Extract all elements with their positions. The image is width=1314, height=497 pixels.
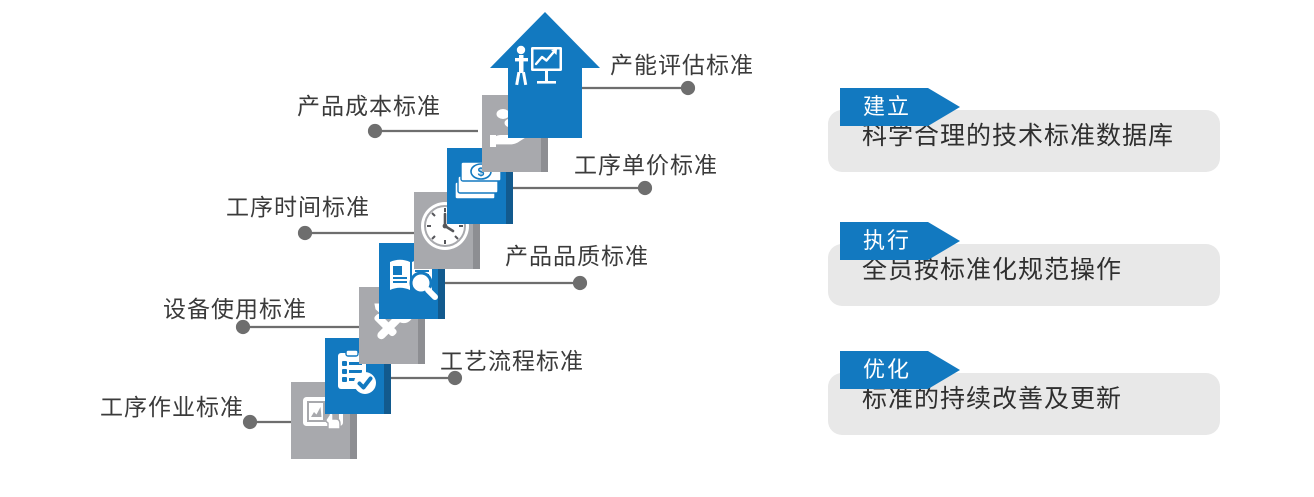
infographic-canvas: $	[0, 0, 1314, 497]
step-label-8: 产能评估标准	[610, 54, 754, 77]
standards-lifecycle-panel: 科学合理的技术标准数据库 建立 全员按标准化规范操作 执行 标准的持续改善及更新…	[828, 0, 1314, 497]
connector-dot-4	[574, 277, 586, 289]
step-label-3: 设备使用标准	[163, 298, 307, 321]
tab-label-3: 优化	[840, 351, 934, 389]
tab-label-2: 执行	[840, 222, 934, 260]
step-label-4: 产品品质标准	[505, 245, 649, 268]
connector-dot-5	[299, 227, 311, 239]
card-tab-1[interactable]: 建立	[840, 88, 960, 126]
card-tab-3[interactable]: 优化	[840, 351, 960, 389]
step-label-6: 工序单价标准	[574, 154, 718, 177]
step-label-2: 工艺流程标准	[440, 350, 584, 373]
step-label-5: 工序时间标准	[226, 196, 370, 219]
connector-dot-8	[682, 82, 694, 94]
connector-dot-1	[244, 416, 256, 428]
card-tab-2[interactable]: 执行	[840, 222, 960, 260]
connector-dot-3	[237, 321, 249, 333]
staircase-diagram: $	[0, 0, 820, 497]
tab-label-1: 建立	[840, 88, 934, 126]
connector-dot-6	[639, 182, 651, 194]
connector-dot-7	[369, 125, 381, 137]
step-label-7: 产品成本标准	[297, 95, 441, 118]
card-text-1: 科学合理的技术标准数据库	[862, 124, 1174, 149]
card-text-2: 全员按标准化规范操作	[862, 258, 1122, 283]
step-label-1: 工序作业标准	[100, 396, 244, 419]
card-text-3: 标准的持续改善及更新	[862, 387, 1122, 412]
